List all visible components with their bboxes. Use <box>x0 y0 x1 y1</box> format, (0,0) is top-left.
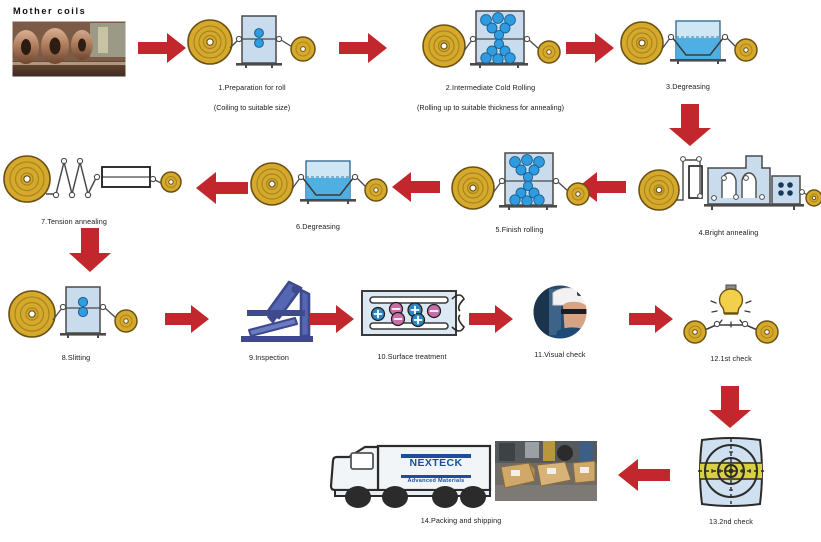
step-3[interactable]: 3.Degreasing <box>618 13 758 92</box>
arrow-8-9 <box>165 305 209 333</box>
step-1-sublabel: (Coiling to suitable size) <box>186 102 318 113</box>
arrow-start-1 <box>138 33 186 63</box>
truck-brand: NEXTECK <box>401 458 471 469</box>
arrow-11-12 <box>629 305 673 333</box>
arrow-1-2 <box>339 33 387 63</box>
degrease-tank-icon <box>248 155 388 218</box>
step-14-label: 14.Packing and shipping <box>325 515 597 526</box>
step-5[interactable]: 5.Finish rolling <box>447 150 592 235</box>
degrease-tank-icon <box>618 13 758 78</box>
bright-anneal-furnace-icon <box>636 148 821 225</box>
step-4[interactable]: 4.Bright annealing <box>636 148 821 238</box>
truck-icon: NEXTECK Advanced Materials <box>325 437 597 509</box>
slitter-icon <box>6 282 146 349</box>
step-2-label: 2.Intermediate Cold Rolling <box>398 82 583 93</box>
step-13-label: 13.2nd check <box>682 516 780 527</box>
arrow-5-6 <box>392 172 440 202</box>
step-7-label: 7.Tension annealing <box>2 216 182 227</box>
cluster-mill-icon <box>398 8 583 79</box>
arrow-10-11 <box>469 305 513 333</box>
microscope-icon <box>213 280 325 349</box>
step-9-label: 9.Inspection <box>213 352 325 363</box>
truck-tagline: Advanced Materials <box>401 478 471 484</box>
process-flow-diagram: Mother coils <box>0 0 821 542</box>
step-1[interactable]: 1.Preparation for roll (Coiling to suita… <box>186 12 318 113</box>
step-12-label: 12.1st check <box>676 353 786 364</box>
tension-anneal-icon <box>2 150 182 213</box>
arrow-7-8 <box>69 228 111 272</box>
worker-photo <box>513 285 607 346</box>
arrow-13-14 <box>618 459 670 491</box>
packing-photo <box>495 441 597 501</box>
step-1-label: 1.Preparation for roll <box>186 82 318 93</box>
electroplating-bath-icon <box>352 283 472 348</box>
arrow-3-4 <box>669 104 711 146</box>
crosshair-target-icon <box>682 436 780 513</box>
step-11[interactable]: 11.Visual check <box>513 285 607 360</box>
step-10-label: 10.Surface treatment <box>352 351 472 362</box>
mother-coils-label: Mother coils <box>13 6 86 16</box>
mother-coils-photo <box>12 21 126 77</box>
arrow-9-10 <box>310 305 354 333</box>
step-8[interactable]: 8.Slitting <box>6 282 146 363</box>
step-2-sublabel: (Rolling up to suitable thickness for an… <box>398 102 583 113</box>
step-14[interactable]: NEXTECK Advanced Materials <box>325 437 597 526</box>
arrow-2-3 <box>566 33 614 63</box>
step-13[interactable]: 13.2nd check <box>682 436 780 527</box>
step-7[interactable]: 7.Tension annealing <box>2 150 182 227</box>
step-6-label: 6.Degreasing <box>248 221 388 232</box>
cluster-mill-icon <box>447 150 592 221</box>
step-9[interactable]: 9.Inspection <box>213 280 325 363</box>
coil-mill-icon <box>186 12 318 79</box>
lightbulb-inspection-icon <box>676 283 786 350</box>
step-5-label: 5.Finish rolling <box>447 224 592 235</box>
step-3-label: 3.Degreasing <box>618 81 758 92</box>
arrow-12-13 <box>709 386 751 428</box>
step-4-label: 4.Bright annealing <box>636 227 821 238</box>
step-8-label: 8.Slitting <box>6 352 146 363</box>
step-12[interactable]: 12.1st check <box>676 283 786 364</box>
step-6[interactable]: 6.Degreasing <box>248 155 388 232</box>
step-2[interactable]: 2.Intermediate Cold Rolling (Rolling up … <box>398 8 583 113</box>
step-10[interactable]: 10.Surface treatment <box>352 283 472 362</box>
step-11-label: 11.Visual check <box>513 349 607 360</box>
arrow-6-7 <box>196 172 248 204</box>
